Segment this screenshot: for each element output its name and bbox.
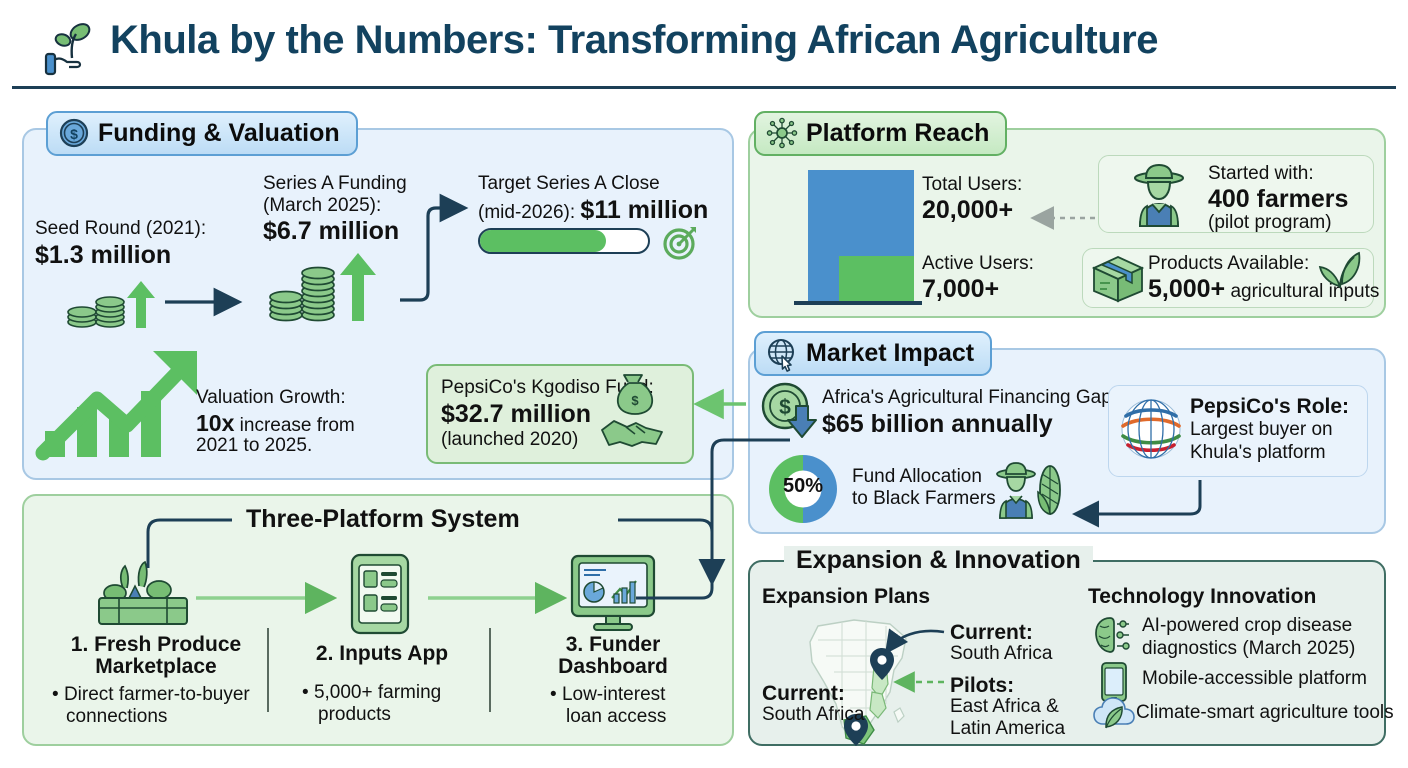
package-box-icon	[1090, 253, 1146, 303]
series-a-label-1: Series A Funding	[263, 173, 407, 196]
total-users-label: Total Users:	[922, 174, 1022, 197]
platform-1-bullet-2: connections	[66, 706, 167, 729]
started-with-sub: (pilot program)	[1208, 212, 1332, 235]
platform-3-bullet-1: • Low-interest	[550, 684, 665, 707]
farmer-icon	[1128, 160, 1190, 228]
target-label-prefix: (mid-2026):	[478, 202, 580, 223]
products-value: 5,000+	[1148, 275, 1225, 303]
expansion-current-callout-sub: South Africa	[950, 643, 1052, 666]
platform-3-bullet-2: loan access	[566, 706, 666, 729]
svg-text:$: $	[779, 396, 791, 419]
platform-2-title-1: 2. Inputs App	[292, 641, 472, 666]
page-title: Khula by the Numbers: Transforming Afric…	[110, 18, 1158, 63]
dollar-coin-icon: $	[59, 118, 89, 148]
handshake-icon	[598, 408, 670, 448]
target-label-2: (mid-2026): $11 million	[478, 195, 708, 225]
mobile-app-icon	[348, 553, 412, 635]
active-users-label: Active Users:	[922, 253, 1034, 276]
market-impact-badge: Market Impact	[754, 331, 992, 376]
valuation-line-1: Valuation Growth:	[196, 387, 346, 410]
pepsico-role-line-2: Khula's platform	[1190, 442, 1326, 465]
platform-3-title-2: Dashboard	[523, 654, 703, 679]
coin-down-arrow-icon: $	[758, 380, 818, 438]
bar-chart-baseline	[794, 301, 922, 305]
expansion-plans-heading: Expansion Plans	[762, 584, 930, 609]
target-progress-bar	[478, 228, 650, 254]
platform-reach-badge: Platform Reach	[754, 111, 1007, 156]
coin-stack-large-icon	[266, 251, 376, 323]
coin-stack-small-icon	[66, 278, 156, 330]
platform-2-bullet-1: • 5,000+ farming	[302, 682, 441, 705]
target-value: $11 million	[580, 196, 708, 224]
svg-text:$: $	[631, 393, 639, 408]
seed-value: $1.3 million	[35, 240, 171, 270]
tech-item-1-line-1: AI-powered crop disease	[1142, 615, 1352, 638]
platform-1-title-2: Marketplace	[66, 654, 246, 679]
produce-crate-icon	[93, 560, 193, 628]
network-nodes-icon	[767, 118, 797, 148]
financing-gap-value: $65 billion annually	[822, 409, 1053, 439]
valuation-line-2-rest: increase from	[234, 415, 354, 436]
started-with-value: 400 farmers	[1208, 184, 1348, 214]
financing-gap-label: Africa's Agricultural Financing Gap:	[822, 387, 1117, 410]
expansion-title: Expansion & Innovation	[784, 546, 1093, 575]
globe-cursor-icon	[767, 338, 797, 368]
series-a-label-2: (March 2025):	[263, 195, 381, 218]
funding-badge: $ Funding & Valuation	[46, 111, 358, 156]
kgodiso-value: $32.7 million	[441, 399, 591, 429]
target-label-1: Target Series A Close	[478, 173, 660, 196]
tech-item-1-line-2: diagnostics (March 2025)	[1142, 638, 1355, 661]
platform-1-bullet-1: • Direct farmer-to-buyer	[52, 684, 250, 707]
seed-label: Seed Round (2021):	[35, 218, 206, 241]
tech-innovation-heading: Technology Innovation	[1088, 584, 1316, 609]
leaf-sprout-icon	[1318, 250, 1362, 290]
valuation-line-3: 2021 to 2025.	[196, 435, 312, 458]
farmer-corn-icon	[992, 458, 1068, 520]
expansion-current-label-title: Current:	[762, 681, 845, 706]
sprout-in-hand-icon	[42, 18, 102, 76]
africa-map-icon	[790, 608, 940, 748]
started-with-line-1: Started with:	[1208, 163, 1314, 186]
expansion-pilots-title: Pilots:	[950, 673, 1014, 698]
valuation-line-2: 10x increase from	[196, 410, 355, 438]
tech-item-3-line-1: Climate-smart agriculture tools	[1136, 702, 1394, 725]
globe-striped-icon	[1118, 396, 1184, 462]
pepsico-role-line-1: Largest buyer on	[1190, 419, 1333, 442]
series-a-value: $6.7 million	[263, 216, 399, 246]
funding-badge-label: Funding & Valuation	[98, 119, 340, 148]
growth-chart-arrow-icon	[35, 345, 205, 465]
expansion-pilots-line-1: East Africa &	[950, 696, 1059, 719]
fund-allocation-line-2: to Black Farmers	[852, 488, 996, 511]
active-users-value: 7,000+	[922, 274, 999, 304]
three-platform-title: Three-Platform System	[234, 505, 532, 534]
fund-allocation-percent: 50%	[766, 474, 840, 498]
pepsico-role-title: PepsiCo's Role:	[1190, 394, 1349, 419]
fund-allocation-line-1: Fund Allocation	[852, 466, 982, 489]
target-bullseye-icon	[662, 224, 698, 260]
platform-2-bullet-2: products	[318, 704, 391, 727]
expansion-current-label-sub: South Africa	[762, 704, 864, 727]
climate-cloud-leaf-icon	[1092, 696, 1136, 730]
kgodiso-sub: (launched 2020)	[441, 429, 578, 452]
valuation-multiplier: 10x	[196, 410, 234, 436]
products-label: Products Available:	[1148, 253, 1309, 276]
tech-item-2-line-1: Mobile-accessible platform	[1142, 668, 1367, 691]
dashboard-monitor-icon	[570, 554, 656, 632]
total-users-value: 20,000+	[922, 195, 1013, 225]
svg-text:$: $	[70, 126, 78, 142]
target-progress-fill	[480, 230, 606, 252]
ai-brain-icon	[1092, 614, 1134, 656]
infographic-root: Khula by the Numbers: Transforming Afric…	[0, 0, 1408, 768]
market-impact-badge-label: Market Impact	[806, 339, 974, 368]
active-users-bar	[839, 256, 914, 302]
platform-reach-badge-label: Platform Reach	[806, 119, 989, 148]
header-divider	[12, 86, 1396, 89]
expansion-pilots-line-2: Latin America	[950, 718, 1065, 741]
header: Khula by the Numbers: Transforming Afric…	[0, 0, 1408, 92]
expansion-current-callout-title: Current:	[950, 620, 1033, 645]
